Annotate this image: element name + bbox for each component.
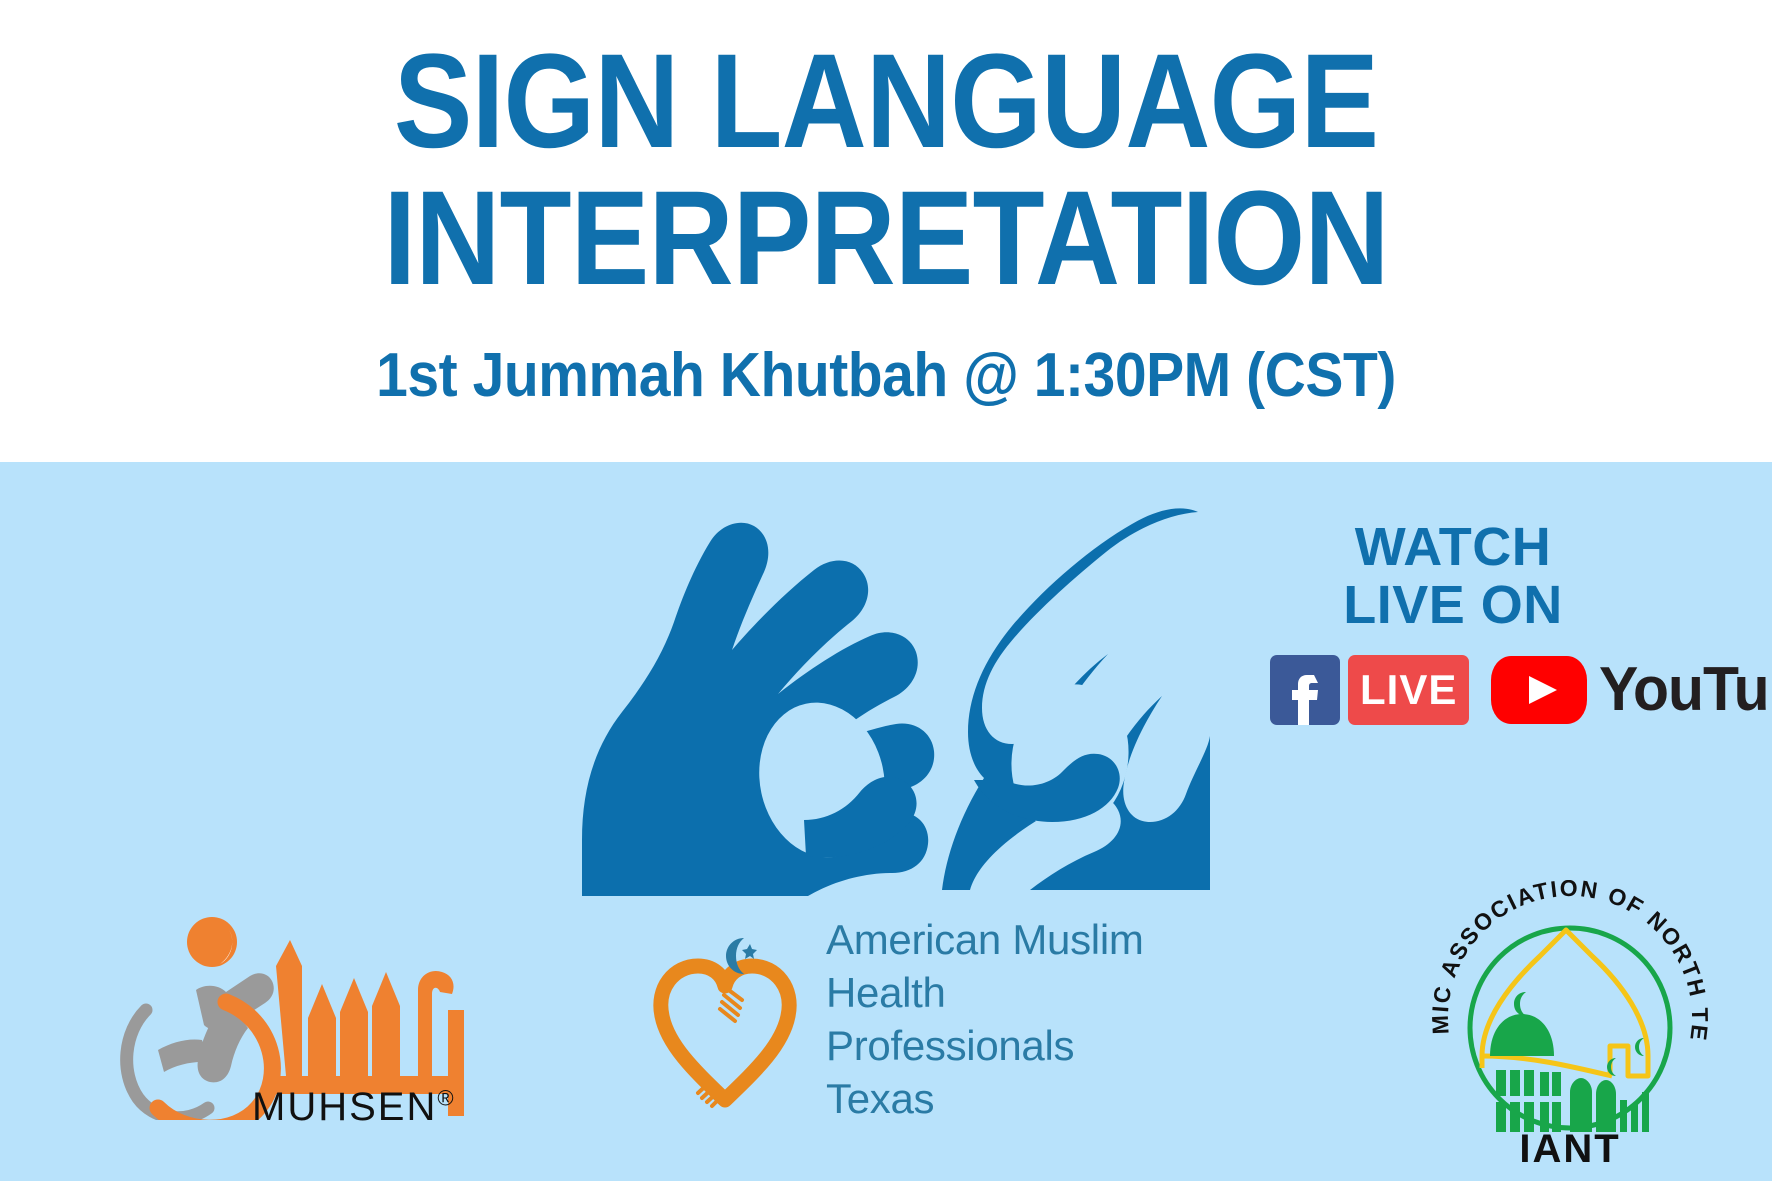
page-title: SIGN LANGUAGE INTERPRETATION — [106, 34, 1665, 307]
streaming-badges: LIVE YouTube — [1270, 655, 1772, 725]
flyer-canvas: SIGN LANGUAGE INTERPRETATION 1st Jummah … — [0, 0, 1772, 1181]
watch-live-block: WATCH LIVE ON — [1240, 518, 1760, 635]
iant-logo[interactable]: ISLAMIC ASSOCIATION OF NORTH TEXAS IANT — [1420, 880, 1720, 1170]
amhp-texas-name: American Muslim Health Professionals Tex… — [826, 914, 1170, 1126]
muhsen-wordmark: MUHSEN® — [252, 1085, 456, 1130]
muhsen-registered-mark: ® — [437, 1086, 455, 1111]
header-band: SIGN LANGUAGE INTERPRETATION 1st Jummah … — [0, 0, 1772, 462]
muhsen-wordmark-text: MUHSEN — [252, 1085, 437, 1129]
amhp-texas-logo[interactable]: American Muslim Health Professionals Tex… — [650, 930, 1170, 1110]
event-subtitle: 1st Jummah Khutbah @ 1:30PM (CST) — [71, 345, 1701, 407]
watch-live-heading: WATCH LIVE ON — [1288, 518, 1618, 635]
iant-acronym: IANT — [1519, 1127, 1620, 1170]
sign-language-hands-icon — [570, 480, 1210, 900]
facebook-icon[interactable] — [1270, 655, 1340, 725]
muhsen-logo[interactable] — [100, 880, 500, 1120]
youtube-wordmark: YouTube — [1599, 659, 1772, 721]
youtube-play-icon[interactable] — [1491, 656, 1587, 724]
youtube-badge[interactable]: YouTube — [1491, 656, 1772, 724]
amhp-heart-hands-icon — [650, 930, 800, 1110]
facebook-live-badge[interactable]: LIVE — [1348, 655, 1469, 725]
